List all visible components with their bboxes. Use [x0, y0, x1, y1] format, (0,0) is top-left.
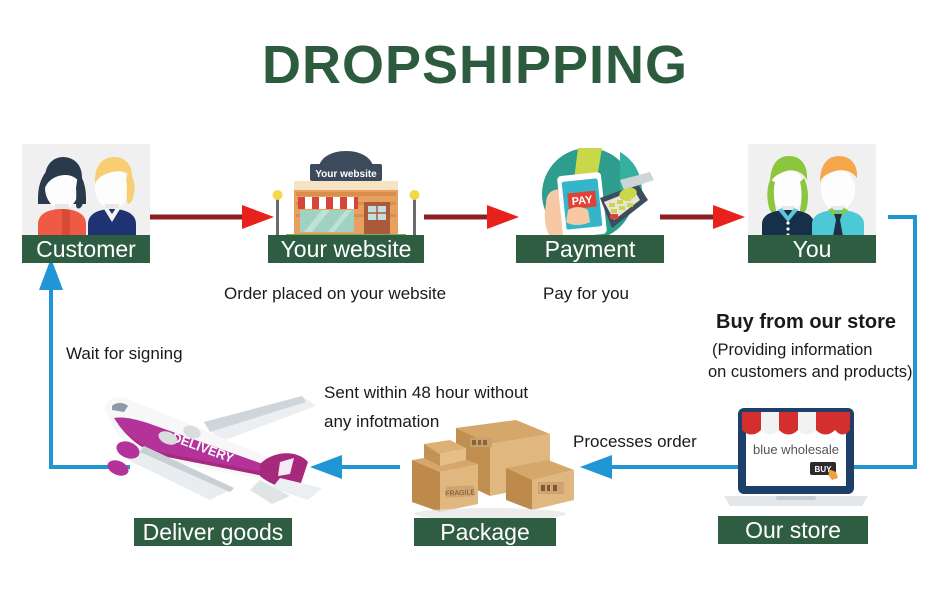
caption-order-placed: Order placed on your website	[224, 284, 446, 304]
node-your-website-art: Your website	[266, 150, 426, 240]
arrow-website-to-payment	[424, 205, 519, 229]
store-screen-text: blue wholesale	[753, 442, 839, 457]
arrow-payment-to-you	[660, 205, 745, 229]
caption-wait-for-signing: Wait for signing	[66, 344, 183, 364]
node-deliver-goods-art: DELIVERY	[84, 380, 334, 515]
page-title: DROPSHIPPING	[0, 34, 950, 96]
node-payment-label: Payment	[516, 235, 664, 263]
caption-sent-within-line1: Sent within 48 hour without	[324, 383, 528, 403]
caption-pay-for-you: Pay for you	[543, 284, 629, 304]
dropshipping-diagram: DROPSHIPPING	[0, 0, 950, 611]
node-our-store-art: blue wholesale BUY	[716, 404, 876, 520]
caption-providing-info-line2: on customers and products)	[708, 363, 913, 382]
caption-processes-order: Processes order	[573, 432, 697, 452]
node-payment-art: PAY	[516, 148, 660, 240]
node-deliver-goods-label: Deliver goods	[134, 518, 292, 546]
node-customer-art	[22, 144, 150, 239]
caption-sent-within-line2: any infotmation	[324, 412, 439, 432]
node-you-label: You	[748, 235, 876, 263]
arrow-customer-to-website	[150, 205, 274, 229]
node-your-website-label: Your website	[268, 235, 424, 263]
node-customer-label: Customer	[22, 235, 150, 263]
caption-buy-from-our-store: Buy from our store	[716, 311, 896, 334]
node-you-art	[748, 144, 876, 239]
caption-providing-info-line1: (Providing information	[712, 341, 873, 360]
website-sign-text: Your website	[315, 169, 377, 180]
pay-badge-text: PAY	[571, 194, 594, 208]
node-our-store-label: Our store	[718, 516, 868, 544]
node-package-label: Package	[414, 518, 556, 546]
